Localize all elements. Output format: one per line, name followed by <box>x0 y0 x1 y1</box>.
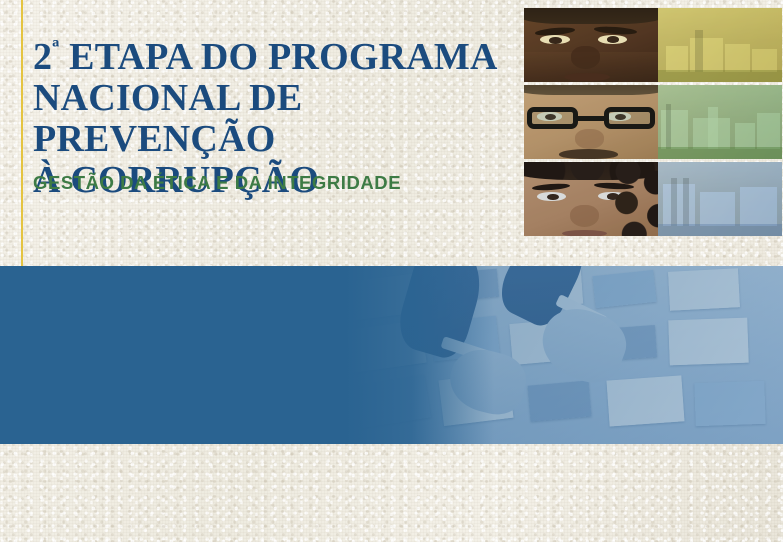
photo-band-blue <box>524 162 782 236</box>
photo-city-palace-blue <box>658 162 782 236</box>
subtitle: GESTÃO DA ÉTICA E DA INTEGRIDADE <box>33 172 401 194</box>
photo-city-palace <box>658 8 782 82</box>
headline-line-1: 2ª ETAPA DO PROGRAMA <box>33 28 513 78</box>
photo-desk-documents <box>345 266 783 444</box>
photo-face-woman <box>524 162 658 236</box>
photo-band-green <box>524 85 782 159</box>
photo-face-man <box>524 8 658 82</box>
photo-city-historic <box>658 85 782 159</box>
event-poster: 2ª ETAPA DO PROGRAMA NACIONAL DE PREVENÇ… <box>0 0 783 542</box>
photo-strip <box>524 8 782 236</box>
photo-band-yellow <box>524 8 782 82</box>
footer: PROGRAMA NACIONAL DE Prevenção à Corrupç… <box>0 444 783 542</box>
photo-face-man-glasses <box>524 85 658 159</box>
headline-line-2: NACIONAL DE PREVENÇÃO <box>33 78 513 160</box>
yellow-rule-thin <box>21 0 23 266</box>
event-date-band: 15 DE JUNHO QUARTA-FEIRA 10h — 12h <box>0 266 783 444</box>
